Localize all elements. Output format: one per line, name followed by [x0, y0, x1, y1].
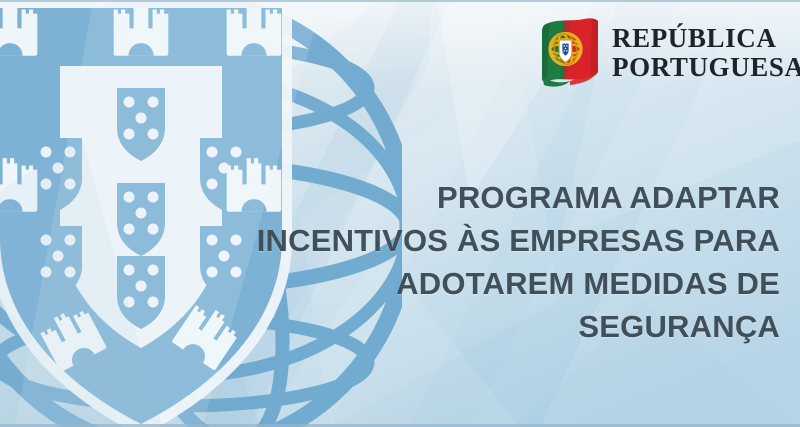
wordmark-line-2: PORTUGUESA — [612, 53, 800, 82]
wordmark-line-1: REPÚBLICA — [612, 23, 776, 53]
headline-line-4: SEGURANÇA — [180, 305, 780, 348]
banner-root: REPÚBLICA PORTUGUESA PROGRAMA ADAPTAR IN… — [0, 0, 800, 427]
headline-line-2: INCENTIVOS ÀS EMPRESAS PARA — [180, 219, 780, 262]
republica-portuguesa-logo[interactable]: REPÚBLICA PORTUGUESA — [540, 16, 800, 90]
headline-line-3: ADOTAREM MEDIDAS DE — [180, 262, 780, 305]
top-divider — [0, 0, 800, 2]
portuguese-flag-armillary-sphere-icon — [540, 16, 600, 90]
headline-line-1: PROGRAMA ADAPTAR — [180, 176, 780, 219]
banner-headline: PROGRAMA ADAPTAR INCENTIVOS ÀS EMPRESAS … — [180, 176, 780, 348]
republica-portuguesa-wordmark: REPÚBLICA PORTUGUESA — [612, 24, 800, 82]
